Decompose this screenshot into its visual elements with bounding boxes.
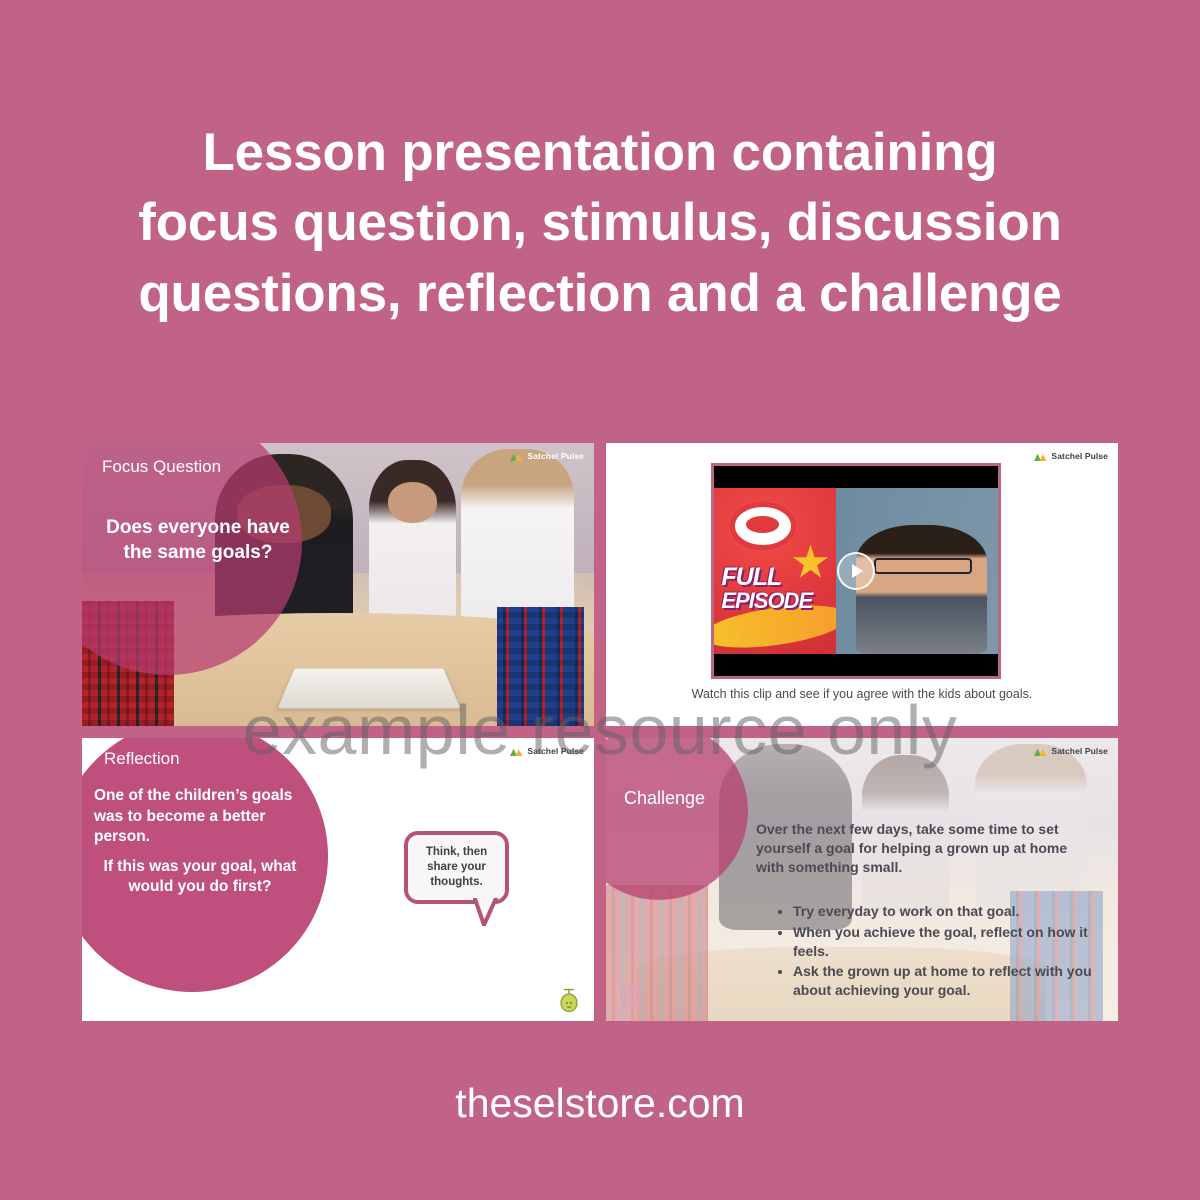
satchel-pulse-logo-text: Satchel Pulse (1051, 746, 1108, 756)
slide-kicker-focus: Focus Question (102, 457, 221, 477)
footer-url: theselstore.com (0, 1080, 1200, 1127)
slide-kicker-challenge: Challenge (624, 788, 705, 809)
mountain-icon (510, 451, 523, 461)
slide-reflection[interactable]: Reflection One of the children’s goals w… (82, 738, 594, 1021)
satchel-pulse-logo-text: Satchel Pulse (527, 451, 584, 461)
speech-bubble-tail (473, 896, 499, 926)
page-title-line-3: questions, reflection and a challenge (60, 259, 1140, 329)
badge-line-2: EPISODE (721, 591, 831, 612)
full-episode-badge: FULL EPISODE (714, 488, 836, 654)
page-title: Lesson presentation containing focus que… (60, 118, 1140, 329)
slide-challenge[interactable]: Challenge Over the next few days, take s… (606, 738, 1118, 1021)
reflection-body: One of the children’s goals was to becom… (94, 786, 306, 898)
video-child-image (856, 525, 987, 654)
challenge-bullet-list: Try everyday to work on that goal. When … (771, 902, 1118, 1002)
satchel-pulse-logo: Satchel Pulse (1034, 746, 1108, 756)
page-title-line-2: focus question, stimulus, discussion (60, 188, 1140, 258)
play-icon[interactable] (837, 552, 875, 590)
slide-stimulus[interactable]: FULL EPISODE Watch this clip and see if … (606, 443, 1118, 726)
broadcaster-logo-icon (729, 501, 797, 551)
speech-bubble-text: Think, then share your thoughts. (408, 835, 505, 900)
challenge-body: Over the next few days, take some time t… (756, 820, 1090, 876)
satchel-pulse-logo-text: Satchel Pulse (527, 746, 584, 756)
focus-question-text: Does everyone have the same goals? (100, 515, 296, 566)
mountain-icon (510, 746, 523, 756)
slide-grid: Focus Question Does everyone have the sa… (82, 443, 1118, 1028)
reflection-line-1: One of the children’s goals was to becom… (94, 786, 306, 848)
slide-focus-question[interactable]: Focus Question Does everyone have the sa… (82, 443, 594, 726)
satchel-pulse-logo: Satchel Pulse (510, 746, 584, 756)
list-item: When you achieve the goal, reflect on ho… (793, 923, 1118, 961)
satchel-pulse-logo-text: Satchel Pulse (1051, 451, 1108, 461)
pear-icon (558, 987, 580, 1013)
slide-kicker-reflection: Reflection (104, 749, 180, 769)
badge-line-1: FULL (721, 566, 831, 590)
page-title-line-1: Lesson presentation containing (60, 118, 1140, 188)
mountain-icon (1034, 746, 1047, 756)
speech-bubble: Think, then share your thoughts. (404, 831, 509, 904)
stimulus-caption: Watch this clip and see if you agree wit… (606, 687, 1118, 701)
mountain-icon (1034, 451, 1047, 461)
video-player[interactable]: FULL EPISODE (711, 463, 1001, 679)
glasses-icon (874, 558, 972, 574)
satchel-pulse-logo: Satchel Pulse (1034, 451, 1108, 461)
satchel-pulse-logo: Satchel Pulse (510, 451, 584, 461)
list-item: Try everyday to work on that goal. (793, 902, 1118, 921)
reflection-line-2: If this was your goal, what would you do… (94, 857, 306, 898)
target-icon (618, 979, 648, 1009)
list-item: Ask the grown up at home to reflect with… (793, 962, 1118, 1000)
